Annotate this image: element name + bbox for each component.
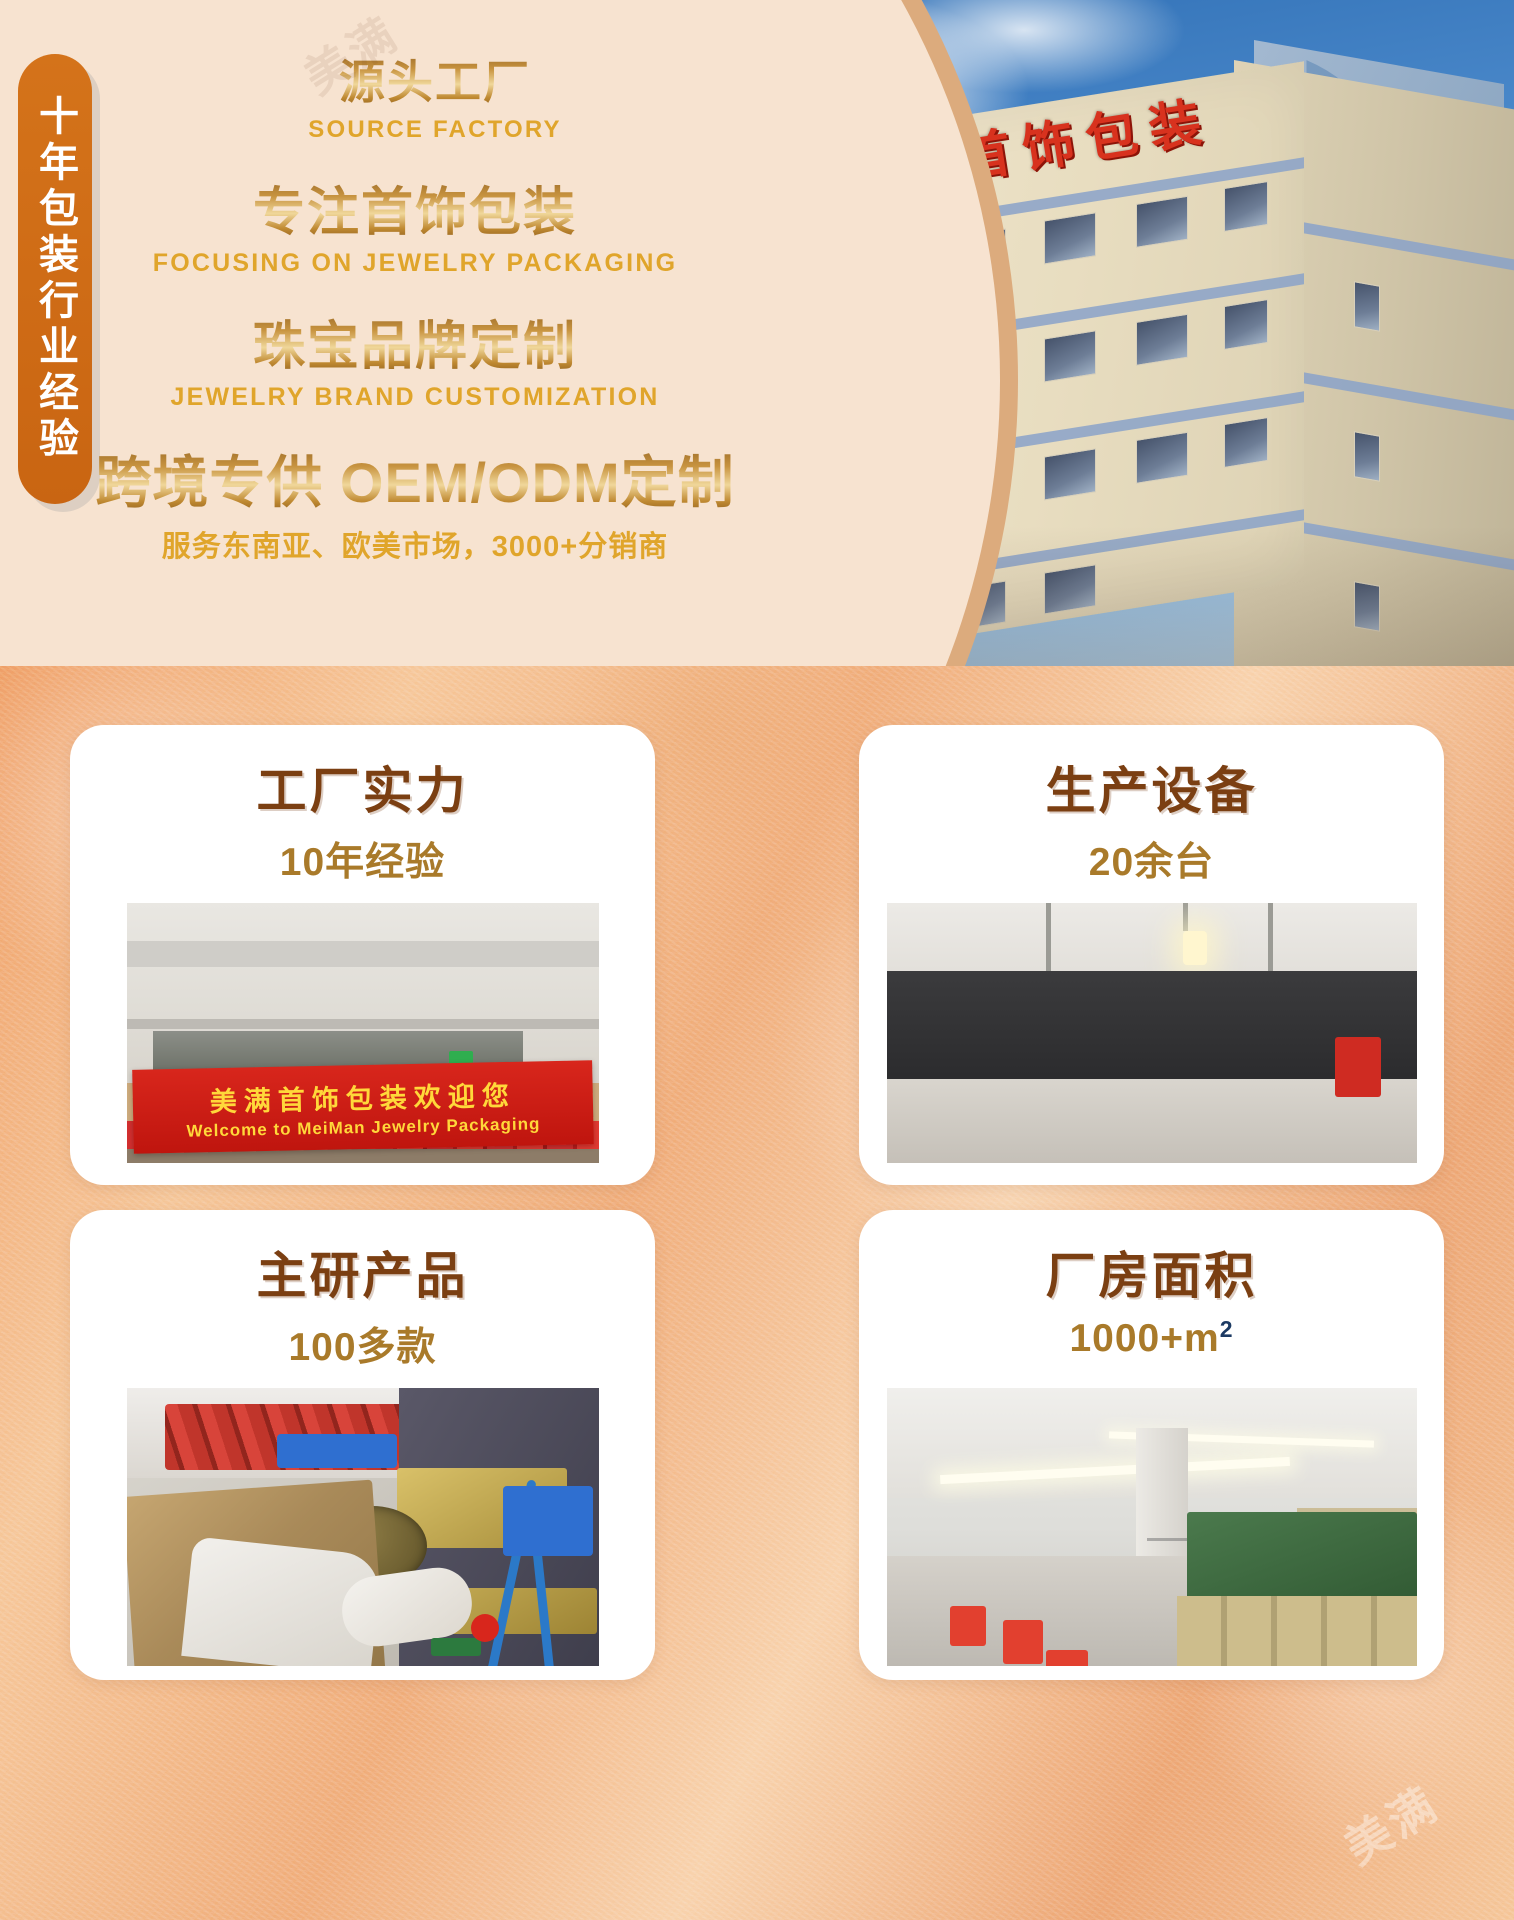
card-main-products-subtitle: 100多款 xyxy=(70,1316,655,1372)
card-factory-area-subtitle-sup: 2 xyxy=(1220,1316,1234,1342)
card-factory-area-subtitle: 1000+m2 xyxy=(859,1316,1444,1361)
header-line-2-en: FOCUSING ON JEWELRY PACKAGING xyxy=(95,249,735,278)
header-line-3: 珠宝品牌定制 JEWELRY BRAND CUSTOMIZATION xyxy=(95,304,735,412)
header-line-1-en: SOURCE FACTORY xyxy=(135,116,735,144)
card-factory-strength-title: 工厂实力 xyxy=(70,751,655,823)
workshop-floor-photo xyxy=(887,1388,1417,1666)
header-line-1: 源头工厂 SOURCE FACTORY xyxy=(95,46,735,144)
header-banner: 美满首饰包装 十年包装行业经验 源头工厂 SOURCE FACTORY 专注首饰… xyxy=(0,0,1514,666)
header-line-3-en: JEWELRY BRAND CUSTOMIZATION xyxy=(95,383,735,412)
header-line-4: 跨境专供 OEM/ODM定制 服务东南亚、欧美市场，3000+分销商 xyxy=(95,438,735,565)
card-production-equipment-title: 生产设备 xyxy=(859,751,1444,823)
card-production-equipment-subtitle: 20余台 xyxy=(859,831,1444,887)
card-production-equipment[interactable]: 生产设备 20余台 xyxy=(859,725,1444,1185)
header-line-1-cn: 源头工厂 xyxy=(135,46,735,112)
header-line-3-cn: 珠宝品牌定制 xyxy=(95,304,735,379)
header-line-4-sub: 服务东南亚、欧美市场，3000+分销商 xyxy=(95,523,735,565)
years-experience-badge: 十年包装行业经验 xyxy=(18,54,92,504)
card-factory-area-subtitle-text: 1000+m xyxy=(1069,1317,1219,1360)
header-line-4-cn: 跨境专供 OEM/ODM定制 xyxy=(95,438,735,519)
team-group-photo: 美满首饰包装欢迎您 Welcome to MeiMan Jewelry Pack… xyxy=(127,903,599,1163)
welcome-banner-cn: 美满首饰包装欢迎您 xyxy=(209,1073,516,1118)
card-factory-strength[interactable]: 工厂实力 10年经验 美满首饰包装欢迎您 Welcome to MeiMan J… xyxy=(70,725,655,1185)
card-factory-area-title: 厂房面积 xyxy=(859,1236,1444,1308)
production-equipment-photo xyxy=(887,903,1417,1163)
welcome-banner: 美满首饰包装欢迎您 Welcome to MeiMan Jewelry Pack… xyxy=(132,1060,594,1154)
header-line-2-cn: 专注首饰包装 xyxy=(95,170,735,245)
header-line-2: 专注首饰包装 FOCUSING ON JEWELRY PACKAGING xyxy=(95,170,735,278)
card-main-products-title: 主研产品 xyxy=(70,1236,655,1308)
header-text-block: 源头工厂 SOURCE FACTORY 专注首饰包装 FOCUSING ON J… xyxy=(95,46,735,565)
product-machine-photo xyxy=(127,1388,599,1666)
years-experience-badge-label: 十年包装行业经验 xyxy=(34,95,76,463)
card-factory-area[interactable]: 厂房面积 1000+m2 xyxy=(859,1210,1444,1680)
card-factory-strength-subtitle: 10年经验 xyxy=(70,831,655,887)
card-main-products[interactable]: 主研产品 100多款 xyxy=(70,1210,655,1680)
